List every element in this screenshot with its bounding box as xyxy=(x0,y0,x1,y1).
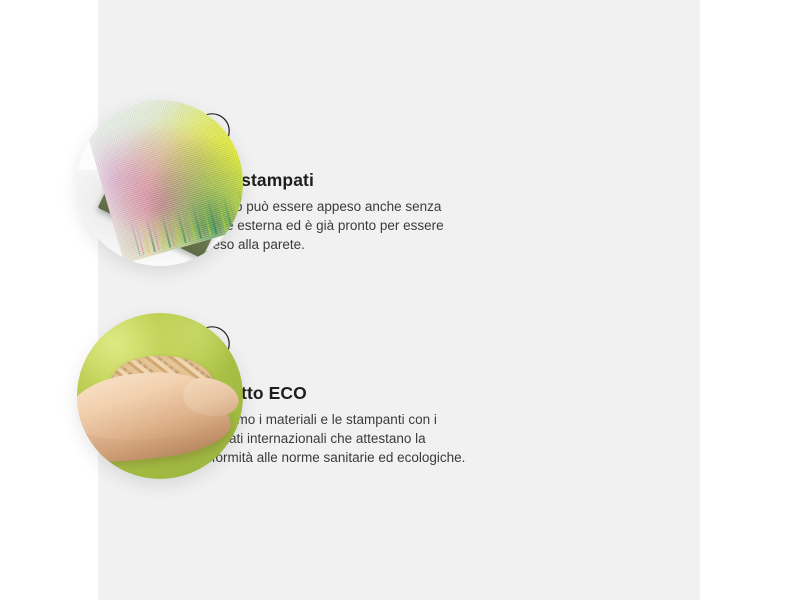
eco-hands-photo xyxy=(77,313,243,479)
feature-block-printed-edges: Bordi stampati Il quadro può essere appe… xyxy=(0,85,482,285)
feature-block-eco-product: Prodotto ECO Utilizziamo i materiali e l… xyxy=(0,298,482,498)
feature-photo-wrapper xyxy=(0,85,190,285)
product-feature-page: Bordi stampati Il quadro può essere appe… xyxy=(0,0,800,600)
canvas-photo-scene xyxy=(77,100,243,266)
eco-photo-scene xyxy=(77,313,243,479)
canvas-corner-photo xyxy=(77,100,243,266)
feature-photo-wrapper xyxy=(0,298,190,498)
